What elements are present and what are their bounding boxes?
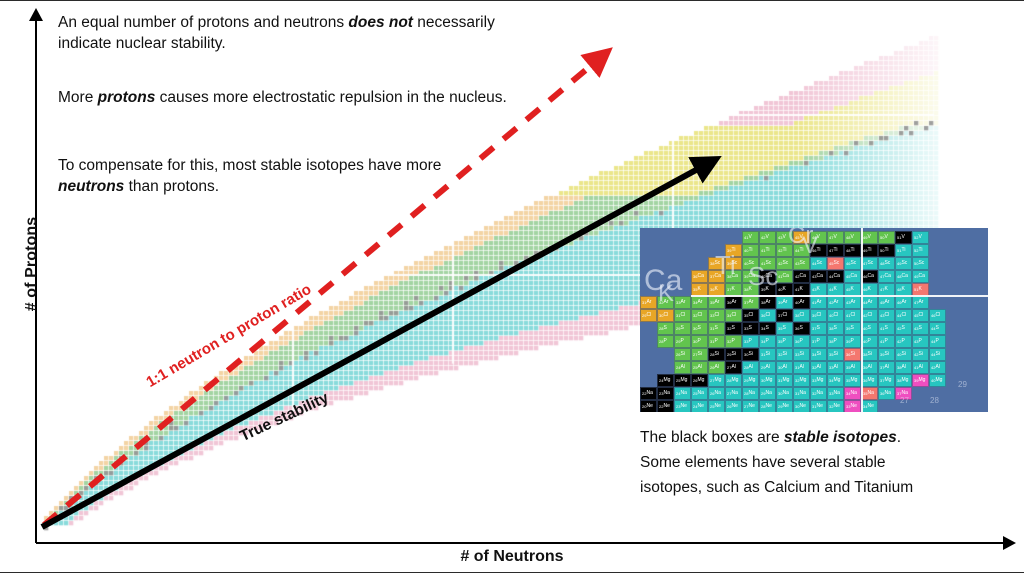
isotope-cell: 44P xyxy=(929,335,946,348)
isotope-cell: 43Sc xyxy=(793,257,810,270)
isotope-cell: 52V xyxy=(912,231,929,244)
isotope-cell: 51Ti xyxy=(895,244,912,257)
isotope-cell: 36S xyxy=(793,322,810,335)
isotope-cell: 43P xyxy=(912,335,929,348)
isotope-cell: 34Cl xyxy=(725,309,742,322)
isotope-cell: 40Sc xyxy=(742,257,759,270)
isotope-cell: 42Cl xyxy=(861,309,878,322)
isotope-cell: 38S xyxy=(827,322,844,335)
isotope-cell: 41S xyxy=(878,322,895,335)
isotope-cell: 24Na xyxy=(674,387,691,400)
isotope-cell: 46Ar xyxy=(895,296,912,309)
isotope-cell: 32Ne xyxy=(827,400,844,412)
isotope-cell: 51V xyxy=(895,231,912,244)
isotope-cell: 46Sc xyxy=(844,257,861,270)
isotope-cell: 37Al xyxy=(878,361,895,374)
isotope-cell: 47Ti xyxy=(827,244,844,257)
isotope-cell: 39Mg xyxy=(912,374,929,387)
isotope-cell: 33Cl xyxy=(708,309,725,322)
isotope-cell: 29Mg xyxy=(742,374,759,387)
isotope-cell: 37Mg xyxy=(878,374,895,387)
isotope-cell: 29P xyxy=(674,335,691,348)
isotope-cell: 40Si xyxy=(895,348,912,361)
isotope-cell: 42Al xyxy=(929,361,946,374)
isotope-cell: 28S xyxy=(657,322,674,335)
isotope-cell: 31Ne xyxy=(810,400,827,412)
legend-caption-line-2: Some elements have several stable xyxy=(640,450,1010,475)
isotope-cell: 39Ti xyxy=(725,244,742,257)
isotope-cell: 46V xyxy=(810,231,827,244)
isotope-cell: 33Na xyxy=(827,387,844,400)
inset-nuclide-panel: 20Ne22Ne23Ne24Ne25Ne26Ne27Ne28Ne29Ne30Ne… xyxy=(640,228,988,412)
isotope-cell: 49Sc xyxy=(895,257,912,270)
isotope-cell: 34Na xyxy=(844,387,861,400)
isotope-cell: 42Ti xyxy=(776,244,793,257)
isotope-cell: 30Mg xyxy=(759,374,776,387)
isotope-cell: 36Mg xyxy=(861,374,878,387)
inset-axis-number: 29 xyxy=(958,380,967,389)
isotope-cell: 30P xyxy=(691,335,708,348)
isotope-cell: 38Sc xyxy=(708,257,725,270)
isotope-cell: 42S xyxy=(895,322,912,335)
isotope-cell: 38P xyxy=(827,335,844,348)
isotope-cell: 35Na xyxy=(861,387,878,400)
isotope-cell: 44Si xyxy=(929,348,946,361)
isotope-cell: 37Ar xyxy=(742,296,759,309)
isotope-cell: 25Ne xyxy=(708,400,725,412)
isotope-cell: 35P xyxy=(776,335,793,348)
isotope-cell: 27Ne xyxy=(742,400,759,412)
isotope-cell: 40Cl xyxy=(827,309,844,322)
isotope-cell: 43Ca xyxy=(810,270,827,283)
slide-canvas: # of Protons # of Neutrons 1:1 neutron t… xyxy=(0,0,1024,577)
isotope-cell: 39P xyxy=(844,335,861,348)
isotope-cell: 23Na xyxy=(657,387,674,400)
isotope-cell: 26Al xyxy=(708,361,725,374)
isotope-cell: 26Na xyxy=(708,387,725,400)
isotope-cell: 45Ar xyxy=(878,296,895,309)
isotope-cell: 35Cl xyxy=(742,309,759,322)
x-axis-label: # of Neutrons xyxy=(0,548,1024,566)
isotope-cell: 32P xyxy=(725,335,742,348)
isotope-cell: 37Cl xyxy=(776,309,793,322)
isotope-cell: 31Si xyxy=(759,348,776,361)
isotope-cell: 31Na xyxy=(793,387,810,400)
isotope-cell: 36Ca xyxy=(691,270,708,283)
note-stability: An equal number of protons and neutrons … xyxy=(58,12,528,54)
isotope-cell: 41V xyxy=(742,231,759,244)
isotope-cell: 38Ar xyxy=(759,296,776,309)
isotope-cell: 22Ne xyxy=(657,400,674,412)
isotope-cell: 27Al xyxy=(725,361,742,374)
isotope-cell: 27Mg xyxy=(708,374,725,387)
isotope-cell: 35Ar xyxy=(708,296,725,309)
isotope-cell: 45Sc xyxy=(827,257,844,270)
isotope-cell: 35Al xyxy=(844,361,861,374)
isotope-cell: 47Ca xyxy=(878,270,895,283)
isotope-cell: 40Ar xyxy=(793,296,810,309)
isotope-cell: 45Cl xyxy=(912,309,929,322)
isotope-cell: 30Ne xyxy=(793,400,810,412)
isotope-cell: 47Ar xyxy=(912,296,929,309)
isotope-cell: 29S xyxy=(674,322,691,335)
isotope-cell: 36Si xyxy=(844,348,861,361)
isotope-cell: 49Ti xyxy=(861,244,878,257)
isotope-cell: 38Mg xyxy=(895,374,912,387)
isotope-cell: 32Ar xyxy=(657,296,674,309)
isotope-cell: 39Cl xyxy=(810,309,827,322)
isotope-cell: 27Na xyxy=(725,387,742,400)
isotope-cell: 29Al xyxy=(759,361,776,374)
magic-number-line-vertical xyxy=(861,228,863,412)
isotope-cell: 31Mg xyxy=(776,374,793,387)
isotope-cell: 30Na xyxy=(776,387,793,400)
isotope-cell: 43Cl xyxy=(878,309,895,322)
legend-caption-line-3: isotopes, such as Calcium and Titanium xyxy=(640,475,1010,500)
isotope-cell: 38Al xyxy=(895,361,912,374)
isotope-cell: 44Ca xyxy=(827,270,844,283)
isotope-cell: 50Ti xyxy=(878,244,895,257)
note-neutron-excess: To compensate for this, most stable isot… xyxy=(58,155,458,197)
isotope-cell: 23Ne xyxy=(674,400,691,412)
isotope-cell: 36Ar xyxy=(725,296,742,309)
note-2-text-c: causes more electrostatic repulsion in t… xyxy=(155,89,507,106)
isotope-cell: 34Mg xyxy=(827,374,844,387)
isotope-cell: 25Na xyxy=(691,387,708,400)
isotope-cell: 31Al xyxy=(793,361,810,374)
isotope-cell: 43Ar xyxy=(844,296,861,309)
isotope-cell: 42Ca xyxy=(793,270,810,283)
isotope-cell: 30Cl xyxy=(657,309,674,322)
isotope-cell: 49Ca xyxy=(912,270,929,283)
isotope-cell: 33Mg xyxy=(810,374,827,387)
isotope-cell: 42P xyxy=(895,335,912,348)
isotope-cell: 24Al xyxy=(674,361,691,374)
isotope-cell: 31Cl xyxy=(674,309,691,322)
isotope-cell: 46Ti xyxy=(810,244,827,257)
isotope-cell: 26Ne xyxy=(725,400,742,412)
isotope-cell: 31Ar xyxy=(640,296,657,309)
isotope-cell: 32Cl xyxy=(691,309,708,322)
isotope-cell: 41Cl xyxy=(844,309,861,322)
isotope-cell: 48Ti xyxy=(844,244,861,257)
isotope-cell: 44S xyxy=(929,322,946,335)
isotope-cell: 31P xyxy=(708,335,725,348)
isotope-cell: 36Na xyxy=(878,387,895,400)
isotope-cell: 40Mg xyxy=(929,374,946,387)
isotope-cell: 37Ca xyxy=(708,270,725,283)
slide-top-rule xyxy=(0,0,1024,1)
note-1-emphasis: does not xyxy=(348,14,413,31)
isotope-cell: 45Ca xyxy=(844,270,861,283)
isotope-cell: 31S xyxy=(708,322,725,335)
isotope-cell: 47V xyxy=(827,231,844,244)
isotope-cell: 39S xyxy=(844,322,861,335)
isotope-cell: 36Cl xyxy=(759,309,776,322)
isotope-cell: 35Mg xyxy=(844,374,861,387)
isotope-cell: 47Sc xyxy=(861,257,878,270)
isotope-cell: 34P xyxy=(759,335,776,348)
isotope-cell: 37S xyxy=(810,322,827,335)
note-3-emphasis: neutrons xyxy=(58,178,124,195)
isotope-cell: 44Sc xyxy=(810,257,827,270)
isotope-cell: 33P xyxy=(742,335,759,348)
note-2-emphasis: protons xyxy=(98,89,156,106)
isotope-cell: 41P xyxy=(878,335,895,348)
isotope-cell: 41Ti xyxy=(759,244,776,257)
note-3-text-a: To compensate for this, most stable isot… xyxy=(58,157,441,174)
isotope-cell: 34Si xyxy=(810,348,827,361)
isotope-cell: 45V xyxy=(793,231,810,244)
isotope-cell: 44Ti xyxy=(793,244,810,257)
element-watermark-ca: Ca xyxy=(644,264,682,298)
isotope-cell: 35S xyxy=(776,322,793,335)
isotope-cell: 36Al xyxy=(861,361,878,374)
isotope-cell: 32Mg xyxy=(793,374,810,387)
slide-bottom-rule xyxy=(0,572,1024,573)
isotope-cell: 50Sc xyxy=(912,257,929,270)
isotope-cell: 43V xyxy=(776,231,793,244)
isotope-cell: 22Na xyxy=(640,387,657,400)
isotope-cell: 39Ca xyxy=(742,270,759,283)
isotope-cell: 33S xyxy=(742,322,759,335)
isotope-cell: 41Ar xyxy=(810,296,827,309)
isotope-cell: 52Ti xyxy=(912,244,929,257)
isotope-cell: 40S xyxy=(861,322,878,335)
inset-axis-number: 28 xyxy=(930,396,939,405)
isotope-cell: 26Si xyxy=(674,348,691,361)
isotope-cell: 28Mg xyxy=(725,374,742,387)
isotope-cell: 48Sc xyxy=(878,257,895,270)
note-2-text-a: More xyxy=(58,89,98,106)
x-axis-line xyxy=(36,542,1011,544)
note-3-text-c: than protons. xyxy=(124,178,219,195)
isotope-cell: 40Ti xyxy=(742,244,759,257)
isotope-cell: 32S xyxy=(725,322,742,335)
isotope-cell: 32Al xyxy=(810,361,827,374)
inset-isotope-grid: 20Ne22Ne23Ne24Ne25Ne26Ne27Ne28Ne29Ne30Ne… xyxy=(640,228,988,412)
isotope-cell: 28Na xyxy=(742,387,759,400)
isotope-cell: 29Cl xyxy=(640,309,657,322)
isotope-cell: 24Mg xyxy=(657,374,674,387)
isotope-cell: 34Ar xyxy=(691,296,708,309)
isotope-cell: 28P xyxy=(657,335,674,348)
isotope-cell: 33Al xyxy=(827,361,844,374)
isotope-cell: 50V xyxy=(878,231,895,244)
isotope-cell: 28Al xyxy=(742,361,759,374)
isotope-cell: 42V xyxy=(759,231,776,244)
isotope-cell: 29Ne xyxy=(776,400,793,412)
isotope-cell: 38Ca xyxy=(725,270,742,283)
isotope-cell: 39Si xyxy=(878,348,895,361)
y-axis-arrow-icon xyxy=(29,8,43,21)
isotope-cell: 34Ne xyxy=(861,400,878,412)
note-1-text-a: An equal number of protons and neutrons xyxy=(58,14,348,31)
isotope-cell: 42Sc xyxy=(776,257,793,270)
isotope-cell: 28Si xyxy=(708,348,725,361)
legend-caption: The black boxes are stable isotopes. Som… xyxy=(640,425,1010,500)
isotope-cell: 41Al xyxy=(912,361,929,374)
isotope-cell: 41Sc xyxy=(759,257,776,270)
isotope-cell: 49V xyxy=(861,231,878,244)
isotope-cell: 44Cl xyxy=(895,309,912,322)
isotope-cell: 40P xyxy=(861,335,878,348)
legend-text-c: . xyxy=(897,429,901,446)
magic-number-line-horizontal xyxy=(691,295,988,297)
isotope-cell: 35Si xyxy=(827,348,844,361)
isotope-cell: 34S xyxy=(759,322,776,335)
isotope-cell: 30Si xyxy=(742,348,759,361)
isotope-cell: 29Na xyxy=(759,387,776,400)
note-repulsion: More protons causes more electrostatic r… xyxy=(58,87,528,108)
isotope-cell: 29Si xyxy=(725,348,742,361)
isotope-cell: 37P xyxy=(810,335,827,348)
isotope-cell: 30Al xyxy=(776,361,793,374)
legend-caption-line-1: The black boxes are stable isotopes. xyxy=(640,425,1010,450)
isotope-cell: 33Ne xyxy=(844,400,861,412)
isotope-cell: 39Ar xyxy=(776,296,793,309)
isotope-cell: 25Mg xyxy=(674,374,691,387)
isotope-cell: 20Ne xyxy=(640,400,657,412)
isotope-cell: 41Ca xyxy=(776,270,793,283)
isotope-cell: 44Ar xyxy=(861,296,878,309)
isotope-cell: 40Ca xyxy=(759,270,776,283)
y-axis-label: # of Protons xyxy=(23,194,41,334)
isotope-cell: 30S xyxy=(691,322,708,335)
isotope-cell: 43S xyxy=(912,322,929,335)
isotope-cell: 27Si xyxy=(691,348,708,361)
isotope-cell: 33Ar xyxy=(674,296,691,309)
isotope-cell: 25Al xyxy=(691,361,708,374)
isotope-cell: 42Ar xyxy=(827,296,844,309)
isotope-cell: 42Si xyxy=(912,348,929,361)
isotope-cell: 28Ne xyxy=(759,400,776,412)
isotope-cell: 32Si xyxy=(776,348,793,361)
isotope-cell: 38Si xyxy=(861,348,878,361)
inset-axis-number: 27 xyxy=(900,396,909,405)
isotope-cell: 36P xyxy=(793,335,810,348)
isotope-cell: 39Sc xyxy=(725,257,742,270)
isotope-cell: 24Ne xyxy=(691,400,708,412)
legend-text-a: The black boxes are xyxy=(640,429,784,446)
isotope-cell: 46Cl xyxy=(929,309,946,322)
isotope-cell: 33Si xyxy=(793,348,810,361)
isotope-cell: 38Cl xyxy=(793,309,810,322)
isotope-cell: 26Mg xyxy=(691,374,708,387)
isotope-cell: 48Ca xyxy=(895,270,912,283)
isotope-cell: 32Na xyxy=(810,387,827,400)
legend-emphasis: stable isotopes xyxy=(784,429,897,446)
isotope-cell: 48V xyxy=(844,231,861,244)
isotope-cell: 46Ca xyxy=(861,270,878,283)
